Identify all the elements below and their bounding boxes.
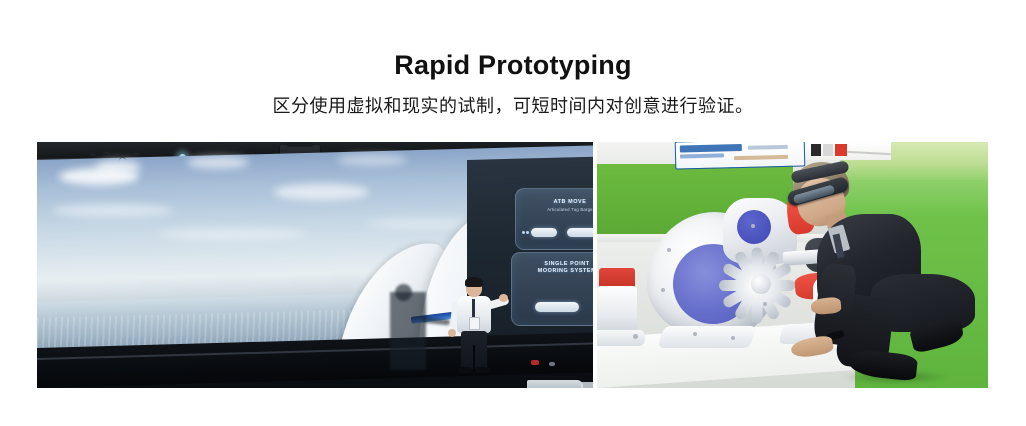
cloud xyxy=(53,204,173,217)
presenter-shoe xyxy=(475,367,490,373)
stand-column xyxy=(597,286,637,336)
overlay-pill xyxy=(535,302,579,312)
banner-text-block xyxy=(680,144,742,153)
turbo-hub xyxy=(751,274,771,294)
cloud xyxy=(337,154,407,166)
hololens-wearer xyxy=(783,156,988,388)
turbo-bolt xyxy=(731,336,735,340)
photo-led-wall-presentation: ATB MOVE Articulated Tug Barge SINGLE PO… xyxy=(37,142,593,388)
birds-icon xyxy=(89,152,145,164)
overlay-card-title: ATB MOVE xyxy=(516,199,593,206)
turbo-bolt xyxy=(751,224,755,228)
overlay-dot xyxy=(522,231,525,234)
presenter-badge xyxy=(469,317,480,330)
presenter-shoe xyxy=(458,367,472,373)
presenter-lanyard xyxy=(472,299,475,319)
overlay-card-subtitle: Articulated Tug Barge xyxy=(516,207,593,213)
presenter xyxy=(445,279,505,375)
turbo-bolt xyxy=(661,288,665,292)
floor-object xyxy=(549,362,555,366)
banner-text-block xyxy=(748,145,788,150)
floor-object xyxy=(531,360,539,365)
overlay-card-title: SINGLE POINT xyxy=(512,261,593,268)
heading-block: Rapid Prototyping 区分使用虚拟和现实的试制，可短时间内对创意进… xyxy=(0,0,1026,118)
shelf-item xyxy=(811,144,821,156)
cloud xyxy=(187,156,249,169)
overlay-card-atb-move: ATB MOVE Articulated Tug Barge xyxy=(515,188,593,250)
page-root: Rapid Prototyping 区分使用虚拟和现实的试制，可短时间内对创意进… xyxy=(0,0,1026,426)
presenter-shadow xyxy=(390,292,426,370)
overlay-pill xyxy=(567,228,593,237)
turbo-bolt xyxy=(693,332,697,336)
banner-text-block xyxy=(734,155,788,160)
banner-text-block xyxy=(680,153,724,158)
page-title: Rapid Prototyping xyxy=(0,0,1026,81)
distant-vessel xyxy=(581,382,593,388)
turbo-bolt xyxy=(763,302,767,306)
turbo-bolt xyxy=(667,248,671,252)
cloud xyxy=(157,228,307,240)
photo-hololens-ar-demo xyxy=(597,142,988,388)
overlay-pill xyxy=(531,228,557,237)
turbo-mounting-foot xyxy=(657,326,756,348)
shelf-item xyxy=(835,144,847,156)
presenter-hand xyxy=(499,294,508,302)
overlay-dot xyxy=(526,231,529,234)
photo-strip: ATB MOVE Articulated Tug Barge SINGLE PO… xyxy=(37,142,988,388)
overlay-card-title-line2: MOORING SYSTEM xyxy=(512,268,593,275)
presenter-hair xyxy=(465,277,483,287)
distant-vessel xyxy=(527,380,583,388)
presenter-leg-gap xyxy=(473,345,475,369)
overlay-card-single-point-mooring: SINGLE POINT MOORING SYSTEM xyxy=(511,252,593,326)
wearer-hand xyxy=(790,334,834,359)
presenter-hand xyxy=(448,329,456,337)
shelf-item xyxy=(823,144,833,156)
page-subtitle: 区分使用虚拟和现实的试制，可短时间内对创意进行验证。 xyxy=(0,81,1026,118)
